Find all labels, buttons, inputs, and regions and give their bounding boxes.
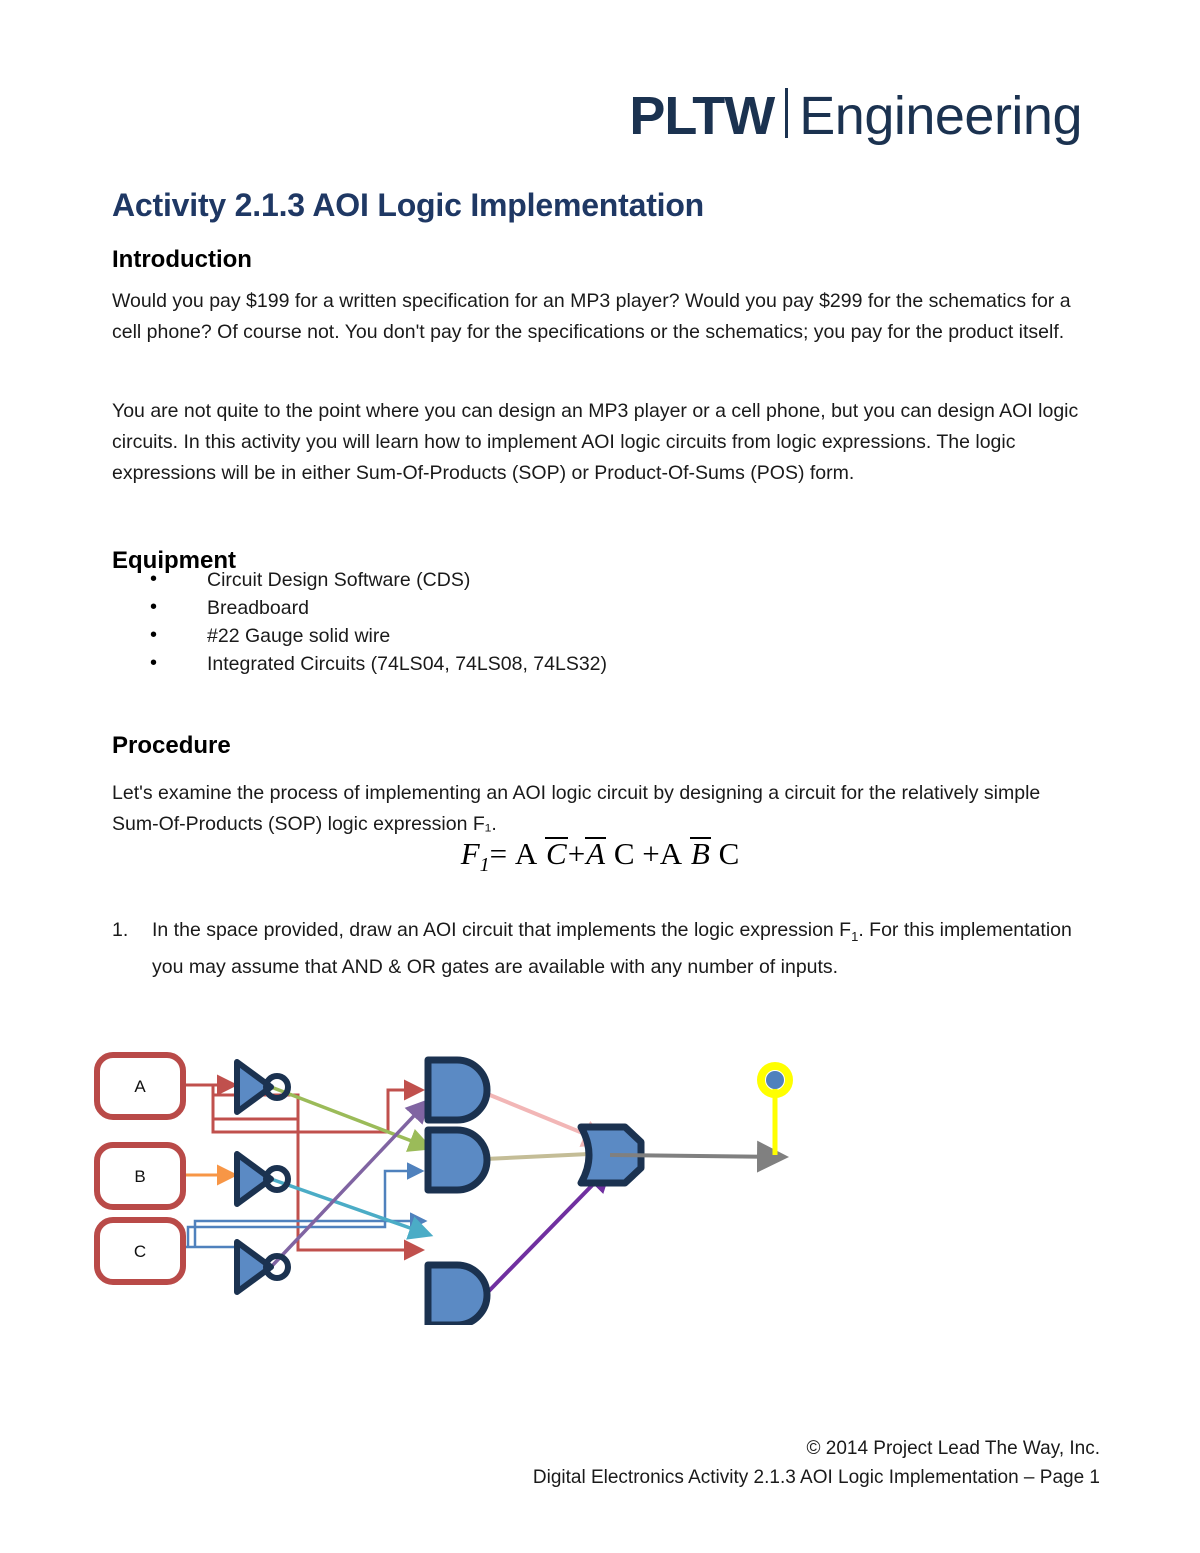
formula-lhs-subscript: 1 <box>480 854 490 876</box>
input-box-c[interactable]: C <box>97 1220 183 1282</box>
introduction-paragraph-2: You are not quite to the point where you… <box>112 396 1084 489</box>
not-gate-b[interactable] <box>237 1154 288 1204</box>
formula-plus-1: + <box>568 836 585 871</box>
output-probe-node[interactable] <box>761 1066 789 1155</box>
footer-document-line: Digital Electronics Activity 2.1.3 AOI L… <box>533 1463 1100 1492</box>
step-number: 1. <box>112 915 146 946</box>
wire-group-inverter-outputs <box>271 1087 430 1267</box>
logic-expression-formula: F1= A C+A C +A B C <box>0 836 1200 877</box>
formula-equals: = <box>490 836 507 871</box>
input-box-a[interactable]: A <box>97 1055 183 1117</box>
probe-core <box>766 1071 784 1089</box>
formula-term1-a: A <box>515 836 537 871</box>
pltw-engineering-logo: PLTW Engineering <box>629 84 1082 143</box>
list-item: Circuit Design Software (CDS) <box>140 566 1040 594</box>
list-item: #22 Gauge solid wire <box>140 622 1040 650</box>
not-gate-c[interactable] <box>237 1242 288 1292</box>
logo-divider <box>785 88 788 138</box>
page-footer: © 2014 Project Lead The Way, Inc. Digita… <box>533 1434 1100 1492</box>
formula-term2-b: C <box>614 836 635 871</box>
document-page: PLTW Engineering Activity 2.1.3 AOI Logi… <box>0 0 1200 1553</box>
formula-plus-2: + <box>642 836 659 871</box>
input-label-b: B <box>134 1167 145 1186</box>
formula-lhs-symbol: F <box>461 836 480 871</box>
logo-engineering-text: Engineering <box>799 89 1082 143</box>
wire-group-a <box>185 1085 422 1250</box>
input-label-a: A <box>134 1077 146 1096</box>
introduction-paragraph-1: Would you pay $199 for a written specifi… <box>112 286 1084 348</box>
logo-pltw-text: PLTW <box>629 89 774 143</box>
list-item: Breadboard <box>140 594 1040 622</box>
aoi-circuit-diagram: A B C <box>85 1035 825 1325</box>
formula-term2-a-not: A <box>585 836 606 872</box>
formula-term1-b-not: C <box>545 836 568 872</box>
list-item: Integrated Circuits (74LS04, 74LS08, 74L… <box>140 650 1040 678</box>
procedure-step-1: 1. In the space provided, draw an AOI ci… <box>112 915 1087 983</box>
procedure-intro-paragraph: Let's examine the process of implementin… <box>112 778 1084 840</box>
page-title: Activity 2.1.3 AOI Logic Implementation <box>112 187 704 224</box>
step-text: In the space provided, draw an AOI circu… <box>152 915 1087 983</box>
formula-term3-a: A <box>660 836 682 871</box>
wire-not-c-to-and1 <box>271 1101 428 1267</box>
step-text-part1: In the space provided, draw an AOI circu… <box>152 919 851 941</box>
formula-term3-c: C <box>719 836 740 871</box>
not-gate-a[interactable] <box>237 1062 288 1112</box>
input-label-c: C <box>134 1242 146 1261</box>
wire-group-and-outputs <box>485 1093 610 1295</box>
equipment-list: Circuit Design Software (CDS) Breadboard… <box>140 566 1040 678</box>
wire-c-to-and2 <box>188 1171 422 1247</box>
section-heading-introduction: Introduction <box>112 246 252 274</box>
and-gate-1[interactable] <box>428 1060 487 1120</box>
input-box-b[interactable]: B <box>97 1145 183 1207</box>
and-gate-3[interactable] <box>428 1265 487 1325</box>
footer-copyright: © 2014 Project Lead The Way, Inc. <box>533 1434 1100 1463</box>
wire-or-to-output <box>610 1155 785 1157</box>
formula-term3-b-not: B <box>690 836 711 872</box>
section-heading-procedure: Procedure <box>112 732 231 760</box>
and-gate-2[interactable] <box>428 1130 487 1190</box>
